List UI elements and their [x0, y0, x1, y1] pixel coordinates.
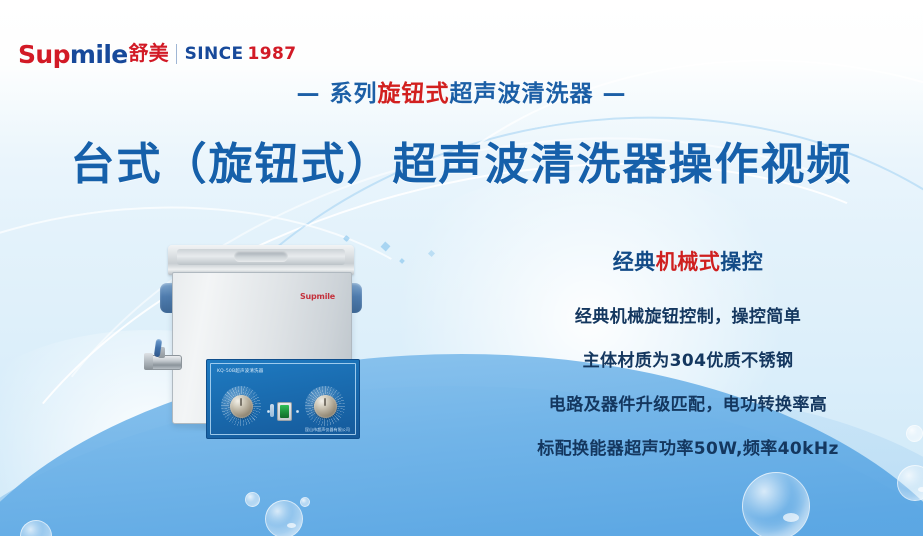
panel-indicator-strip: [270, 404, 274, 417]
control-panel: KQ-50B超声波清洗器 昆山市超声仪器有限公司: [206, 359, 360, 439]
timer-dial-scale: [221, 386, 261, 426]
logo-since-label: SINCE: [185, 46, 244, 63]
bubble-decoration: [906, 425, 923, 442]
heater-dial-scale: [305, 386, 345, 426]
tank-lid: [168, 245, 354, 275]
logo-since-year: 1987: [248, 46, 297, 63]
logo-text-sup: Sup: [18, 42, 70, 67]
bubble-decoration: [300, 497, 310, 507]
drain-valve: [142, 343, 182, 375]
slide-canvas: Sup mile 舒美 SINCE 1987 —系列旋钮式超声波清洗器— 台式（…: [0, 0, 923, 536]
lid-handle: [234, 251, 288, 262]
features-heading-accent: 机械式: [656, 250, 721, 274]
dash-left: —: [288, 81, 330, 107]
power-switch: [277, 402, 292, 421]
page-title: 台式（旋钮式）超声波清洗器操作视频: [0, 128, 923, 192]
brand-logo: Sup mile 舒美 SINCE 1987: [18, 40, 296, 68]
feature-line: 经典机械旋钮控制，操控简单: [468, 302, 908, 327]
dash-right: —: [594, 81, 636, 107]
sparkle-icon: [343, 235, 350, 242]
bubble-decoration: [245, 492, 260, 507]
power-switch-rocker: [280, 405, 289, 418]
subtitle-accent: 旋钮式: [378, 81, 450, 107]
product-brand-text: Supmile: [300, 292, 335, 301]
bubble-decoration: [20, 520, 52, 536]
sparkle-icon: [428, 250, 435, 257]
features-block: 经典机械式操控 经典机械旋钮控制，操控简单 主体材质为304优质不锈钢 电路及器…: [468, 246, 908, 459]
subtitle-post: 超声波清洗器: [450, 81, 594, 107]
sparkle-icon: [381, 242, 391, 252]
feature-line: 电路及器件升级匹配，电功转换率高: [468, 390, 908, 415]
panel-model-label: KQ-50B超声波清洗器: [217, 368, 263, 374]
logo-divider: [176, 44, 177, 64]
feature-line: 主体材质为304优质不锈钢: [468, 346, 908, 371]
features-heading-post: 操控: [720, 250, 763, 274]
bubble-decoration: [742, 472, 810, 536]
heater-knob: [314, 395, 337, 418]
logo-text-chinese: 舒美: [129, 44, 169, 64]
features-heading: 经典机械式操控: [468, 246, 908, 276]
cleaner-body: Supmile KQ-50B超声波清洗器 昆山市超声仪器有限公司: [172, 272, 352, 424]
feature-line: 标配换能器超声功率50W,频率40kHz: [468, 434, 908, 459]
product-image: Supmile KQ-50B超声波清洗器 昆山市超声仪器有限公司: [152, 245, 370, 427]
indicator-led-right: [296, 410, 299, 413]
bubble-decoration: [265, 500, 303, 536]
series-subtitle: —系列旋钮式超声波清洗器—: [0, 74, 923, 108]
features-heading-pre: 经典: [613, 250, 656, 274]
timer-knob: [230, 395, 253, 418]
subtitle-pre: 系列: [330, 81, 378, 107]
sparkle-icon: [399, 258, 405, 264]
bubble-decoration: [897, 465, 923, 501]
valve-body: [148, 355, 182, 370]
panel-manufacturer-label: 昆山市超声仪器有限公司: [305, 427, 350, 433]
valve-nut: [144, 353, 153, 370]
logo-text-mile: mile: [70, 42, 128, 67]
